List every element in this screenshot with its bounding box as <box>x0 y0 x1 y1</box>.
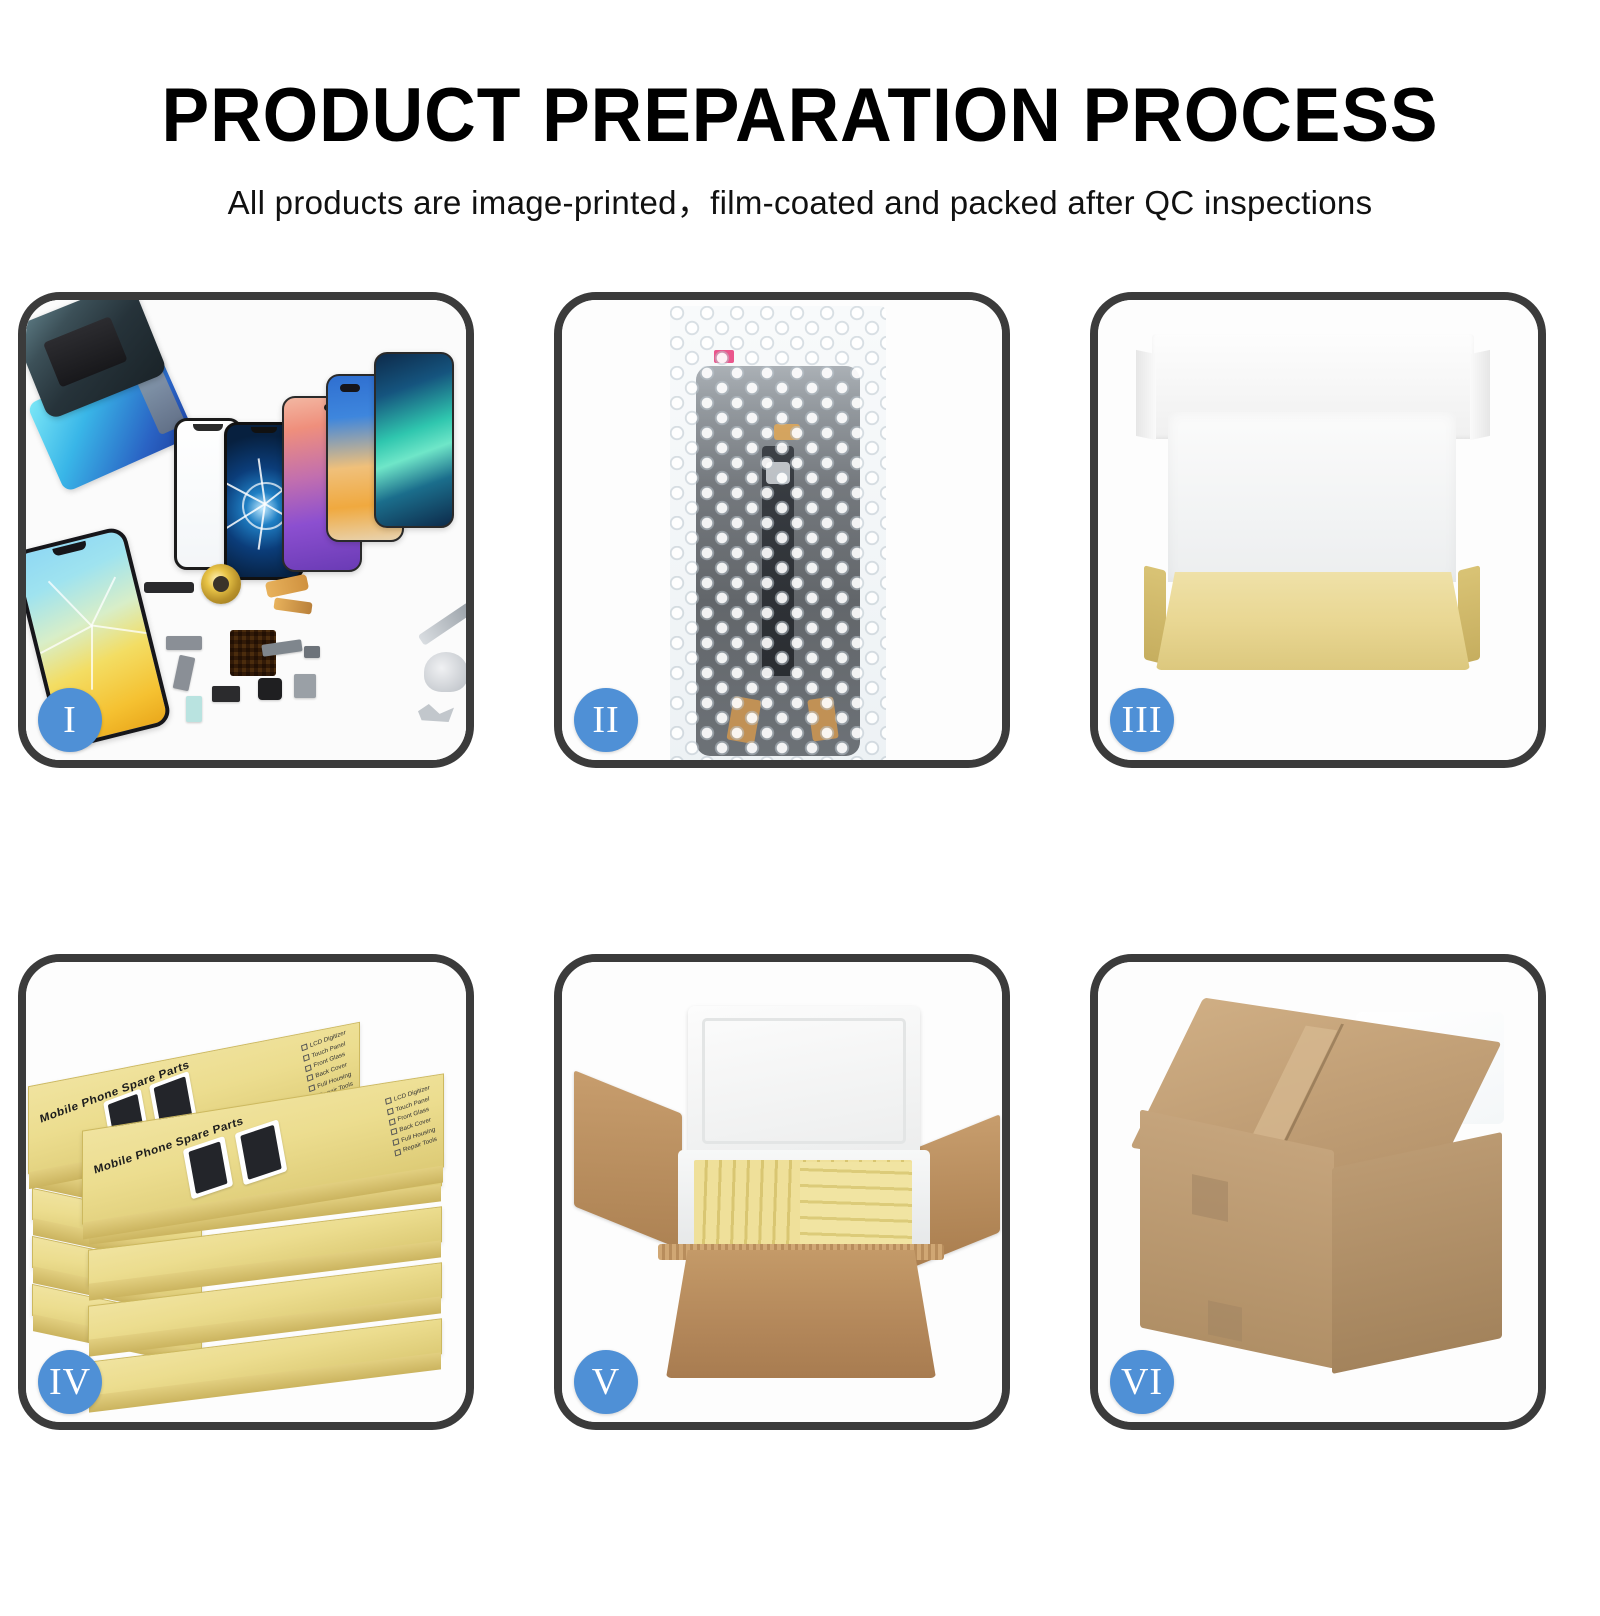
page-title: PRODUCT PREPARATION PROCESS <box>48 0 1552 154</box>
carton-body-icon <box>666 1250 936 1378</box>
step-badge-3: III <box>1110 688 1174 752</box>
camera-module-icon <box>258 678 282 700</box>
page-subtitle: All products are image-printed，film-coat… <box>0 154 1600 224</box>
phone-photo-icon <box>235 1119 288 1185</box>
carton-tab-icon <box>1192 1174 1228 1222</box>
phone-photo-icon <box>183 1136 233 1200</box>
retail-box-checklist: LCD Digitizer Touch Panel Front Glass Ba… <box>385 1083 440 1159</box>
step-badge-5: V <box>574 1350 638 1414</box>
step-panel-2[interactable]: II <box>554 292 1010 768</box>
sim-tray-icon <box>186 696 202 722</box>
step-image-6 <box>1098 962 1538 1422</box>
carton-tab-icon <box>1208 1300 1242 1341</box>
step-image-2 <box>562 300 1002 760</box>
packed-retail-boxes-icon <box>800 1162 912 1248</box>
step-panel-4[interactable]: Mobile Phone Spare Parts LCD Digitizer T… <box>18 954 474 1430</box>
step-panel-5[interactable]: V <box>554 954 1010 1430</box>
brush-tool-icon <box>424 652 466 692</box>
bubble-wrap-bag <box>670 306 886 760</box>
component-icon <box>304 646 320 658</box>
shard-icon <box>48 581 92 627</box>
step-badge-2: II <box>574 688 638 752</box>
process-row-bottom: Mobile Phone Spare Parts LCD Digitizer T… <box>18 954 1582 1434</box>
foam-lid-icon <box>688 1006 920 1158</box>
shard-icon <box>92 625 152 635</box>
product-preparation-page: PRODUCT PREPARATION PROCESS All products… <box>0 0 1600 1600</box>
component-icon <box>294 674 316 698</box>
step-image-3 <box>1098 300 1538 760</box>
step-panel-1[interactable]: I <box>18 292 474 768</box>
shard-icon <box>91 577 116 626</box>
component-icon <box>166 636 202 650</box>
carton-side-icon <box>1332 1132 1502 1374</box>
step-panel-3[interactable]: III <box>1090 292 1546 768</box>
mailer-front-panel-icon <box>1156 572 1470 670</box>
step-image-4: Mobile Phone Spare Parts LCD Digitizer T… <box>26 962 466 1422</box>
step-image-5 <box>562 962 1002 1422</box>
step-image-1 <box>26 300 466 760</box>
sealed-carton <box>1118 1002 1518 1382</box>
shard-icon <box>40 625 92 654</box>
bubble-texture-icon <box>670 306 886 760</box>
component-icon <box>173 655 196 692</box>
step-badge-6: VI <box>1110 1350 1174 1414</box>
step-badge-4: IV <box>38 1350 102 1414</box>
screwdriver-icon <box>418 602 466 646</box>
step-badge-1: I <box>38 688 102 752</box>
wireless-charging-coil-icon <box>201 564 241 604</box>
speaker-icon <box>144 582 194 593</box>
flex-cable-icon <box>273 597 312 614</box>
retail-box-stack: Mobile Phone Spare Parts LCD Digitizer T… <box>26 962 466 1422</box>
screws-icon <box>418 704 454 722</box>
step-panel-6[interactable]: VI <box>1090 954 1546 1430</box>
foam-sheet-icon <box>1168 412 1456 582</box>
process-step-grid: I II <box>18 292 1582 1616</box>
carton-flap-left-icon <box>574 1070 682 1250</box>
phone-parts-scene <box>26 300 466 760</box>
process-row-top: I II <box>18 292 1582 772</box>
component-icon <box>212 686 240 702</box>
shard-icon <box>91 626 93 690</box>
page-header: PRODUCT PREPARATION PROCESS All products… <box>0 0 1600 224</box>
phone-display-teal-icon <box>374 352 454 528</box>
